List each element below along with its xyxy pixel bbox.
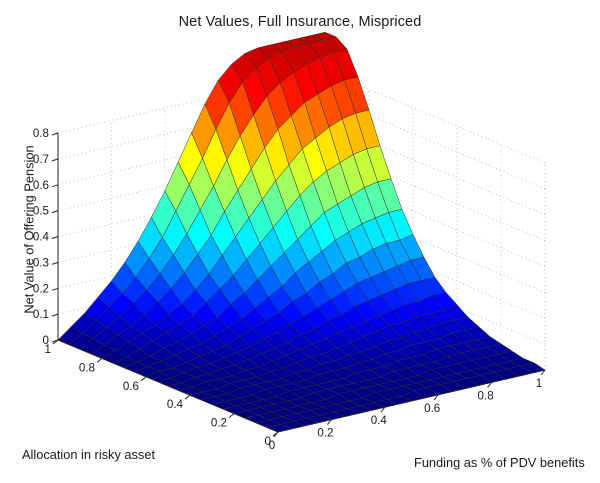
svg-text:0.6: 0.6: [123, 380, 139, 393]
svg-text:0.2: 0.2: [211, 417, 227, 430]
svg-text:0.8: 0.8: [33, 127, 49, 140]
svg-text:0.8: 0.8: [478, 389, 494, 402]
svg-text:1: 1: [45, 343, 51, 356]
svg-text:0.3: 0.3: [33, 256, 49, 269]
svg-text:0.1: 0.1: [33, 308, 49, 321]
svg-text:0.2: 0.2: [33, 282, 49, 295]
svg-text:0.7: 0.7: [33, 153, 49, 166]
figure-canvas: Net Values, Full Insurance, Mispriced Ne…: [0, 0, 600, 483]
svg-text:0.2: 0.2: [317, 427, 333, 440]
svg-text:0: 0: [269, 439, 275, 452]
svg-text:0.6: 0.6: [424, 402, 440, 415]
svg-text:0.4: 0.4: [33, 231, 50, 244]
surface-mesh: [58, 32, 545, 432]
svg-text:0.8: 0.8: [79, 361, 95, 374]
svg-text:0.6: 0.6: [33, 179, 49, 192]
svg-text:0.4: 0.4: [167, 398, 184, 411]
svg-text:0.5: 0.5: [33, 205, 49, 218]
svg-text:1: 1: [536, 377, 542, 390]
surface-plot-axes: 00.10.20.30.40.50.60.70.810.80.60.40.200…: [0, 0, 600, 483]
svg-text:0.4: 0.4: [371, 414, 388, 427]
